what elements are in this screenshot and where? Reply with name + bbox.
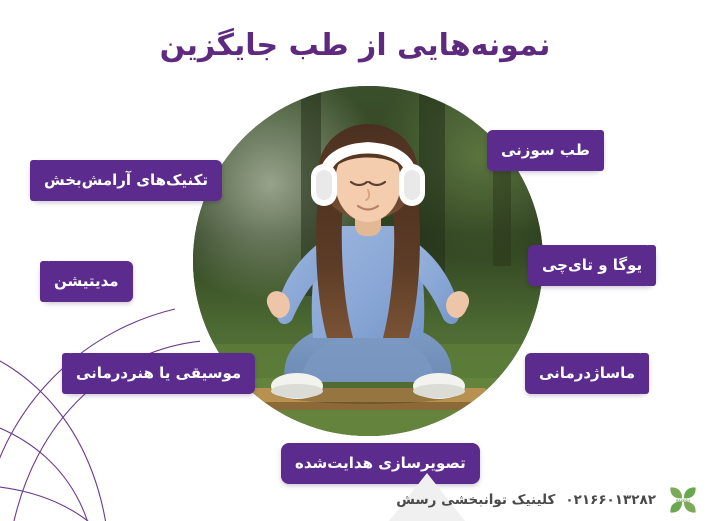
- tag-relaxation-techniques-label: تکنیک‌های آرامش‌بخش: [44, 173, 208, 188]
- tag-acupuncture-label: طب سوزنی: [501, 143, 590, 158]
- clinic-name: کلینیک توانبخشی رسش: [396, 492, 555, 508]
- footer: کلینیک توانبخشی رسش ۰۲۱۶۶۰۱۳۲۸۲ RASESH: [0, 465, 710, 521]
- page-title: نمونه‌هایی از طب جایگزین: [0, 26, 710, 67]
- tag-yoga[interactable]: یوگا و تای‌چی: [528, 245, 656, 286]
- tag-acupuncture[interactable]: طب سوزنی: [487, 130, 604, 171]
- clinic-phone: ۰۲۱۶۶۰۱۳۲۸۲: [565, 492, 656, 508]
- rasesh-leaf-logo-icon: RASESH: [666, 485, 700, 515]
- tag-yoga-label: یوگا و تای‌چی: [542, 258, 642, 273]
- footer-branding: کلینیک توانبخشی رسش ۰۲۱۶۶۰۱۳۲۸۲ RASESH: [396, 485, 700, 515]
- tag-massage-label: ماساژدرمانی: [539, 366, 635, 381]
- tag-music-art-therapy-label: موسیقی یا هنردرمانی: [76, 366, 241, 381]
- tag-music-art-therapy[interactable]: موسیقی یا هنردرمانی: [62, 353, 255, 394]
- infographic-poster: نمونه‌هایی از طب جایگزین: [0, 0, 710, 521]
- tag-meditation[interactable]: مدیتیشن: [40, 261, 133, 302]
- svg-text:RASESH: RASESH: [676, 499, 690, 503]
- tag-meditation-label: مدیتیشن: [54, 274, 119, 289]
- tag-massage[interactable]: ماساژدرمانی: [525, 353, 649, 394]
- tag-relaxation-techniques[interactable]: تکنیک‌های آرامش‌بخش: [30, 160, 222, 201]
